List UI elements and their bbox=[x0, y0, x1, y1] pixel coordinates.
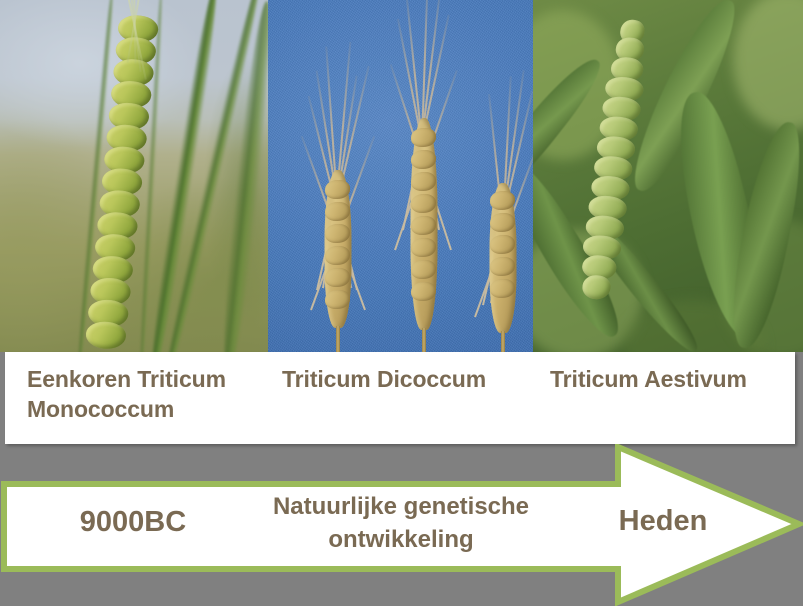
emmer-ear-middle bbox=[384, 100, 464, 352]
caption-einkorn: Eenkoren Triticum Monococcum bbox=[27, 364, 277, 424]
bread-wheat-photo bbox=[533, 0, 803, 352]
emmer-ear-right bbox=[464, 165, 533, 352]
caption-bread-wheat: Triticum Aestivum bbox=[550, 364, 800, 394]
timeline-middle-label: Natuurlijke genetische ontwikkeling bbox=[236, 490, 566, 556]
caption-row: Eenkoren Triticum Monococcum Triticum Di… bbox=[5, 352, 795, 444]
caption-card: Eenkoren Triticum Monococcum Triticum Di… bbox=[5, 352, 795, 444]
caption-emmer: Triticum Dicoccum bbox=[282, 364, 532, 394]
slide-canvas: Eenkoren Triticum Monococcum Triticum Di… bbox=[0, 0, 803, 606]
photo-strip bbox=[0, 0, 803, 352]
emmer-photo bbox=[268, 0, 533, 352]
timeline-start-label: 9000BC bbox=[58, 504, 208, 540]
emmer-ear-left bbox=[298, 150, 378, 352]
einkorn-photo bbox=[0, 0, 268, 352]
timeline-end-label: Heden bbox=[600, 503, 726, 539]
